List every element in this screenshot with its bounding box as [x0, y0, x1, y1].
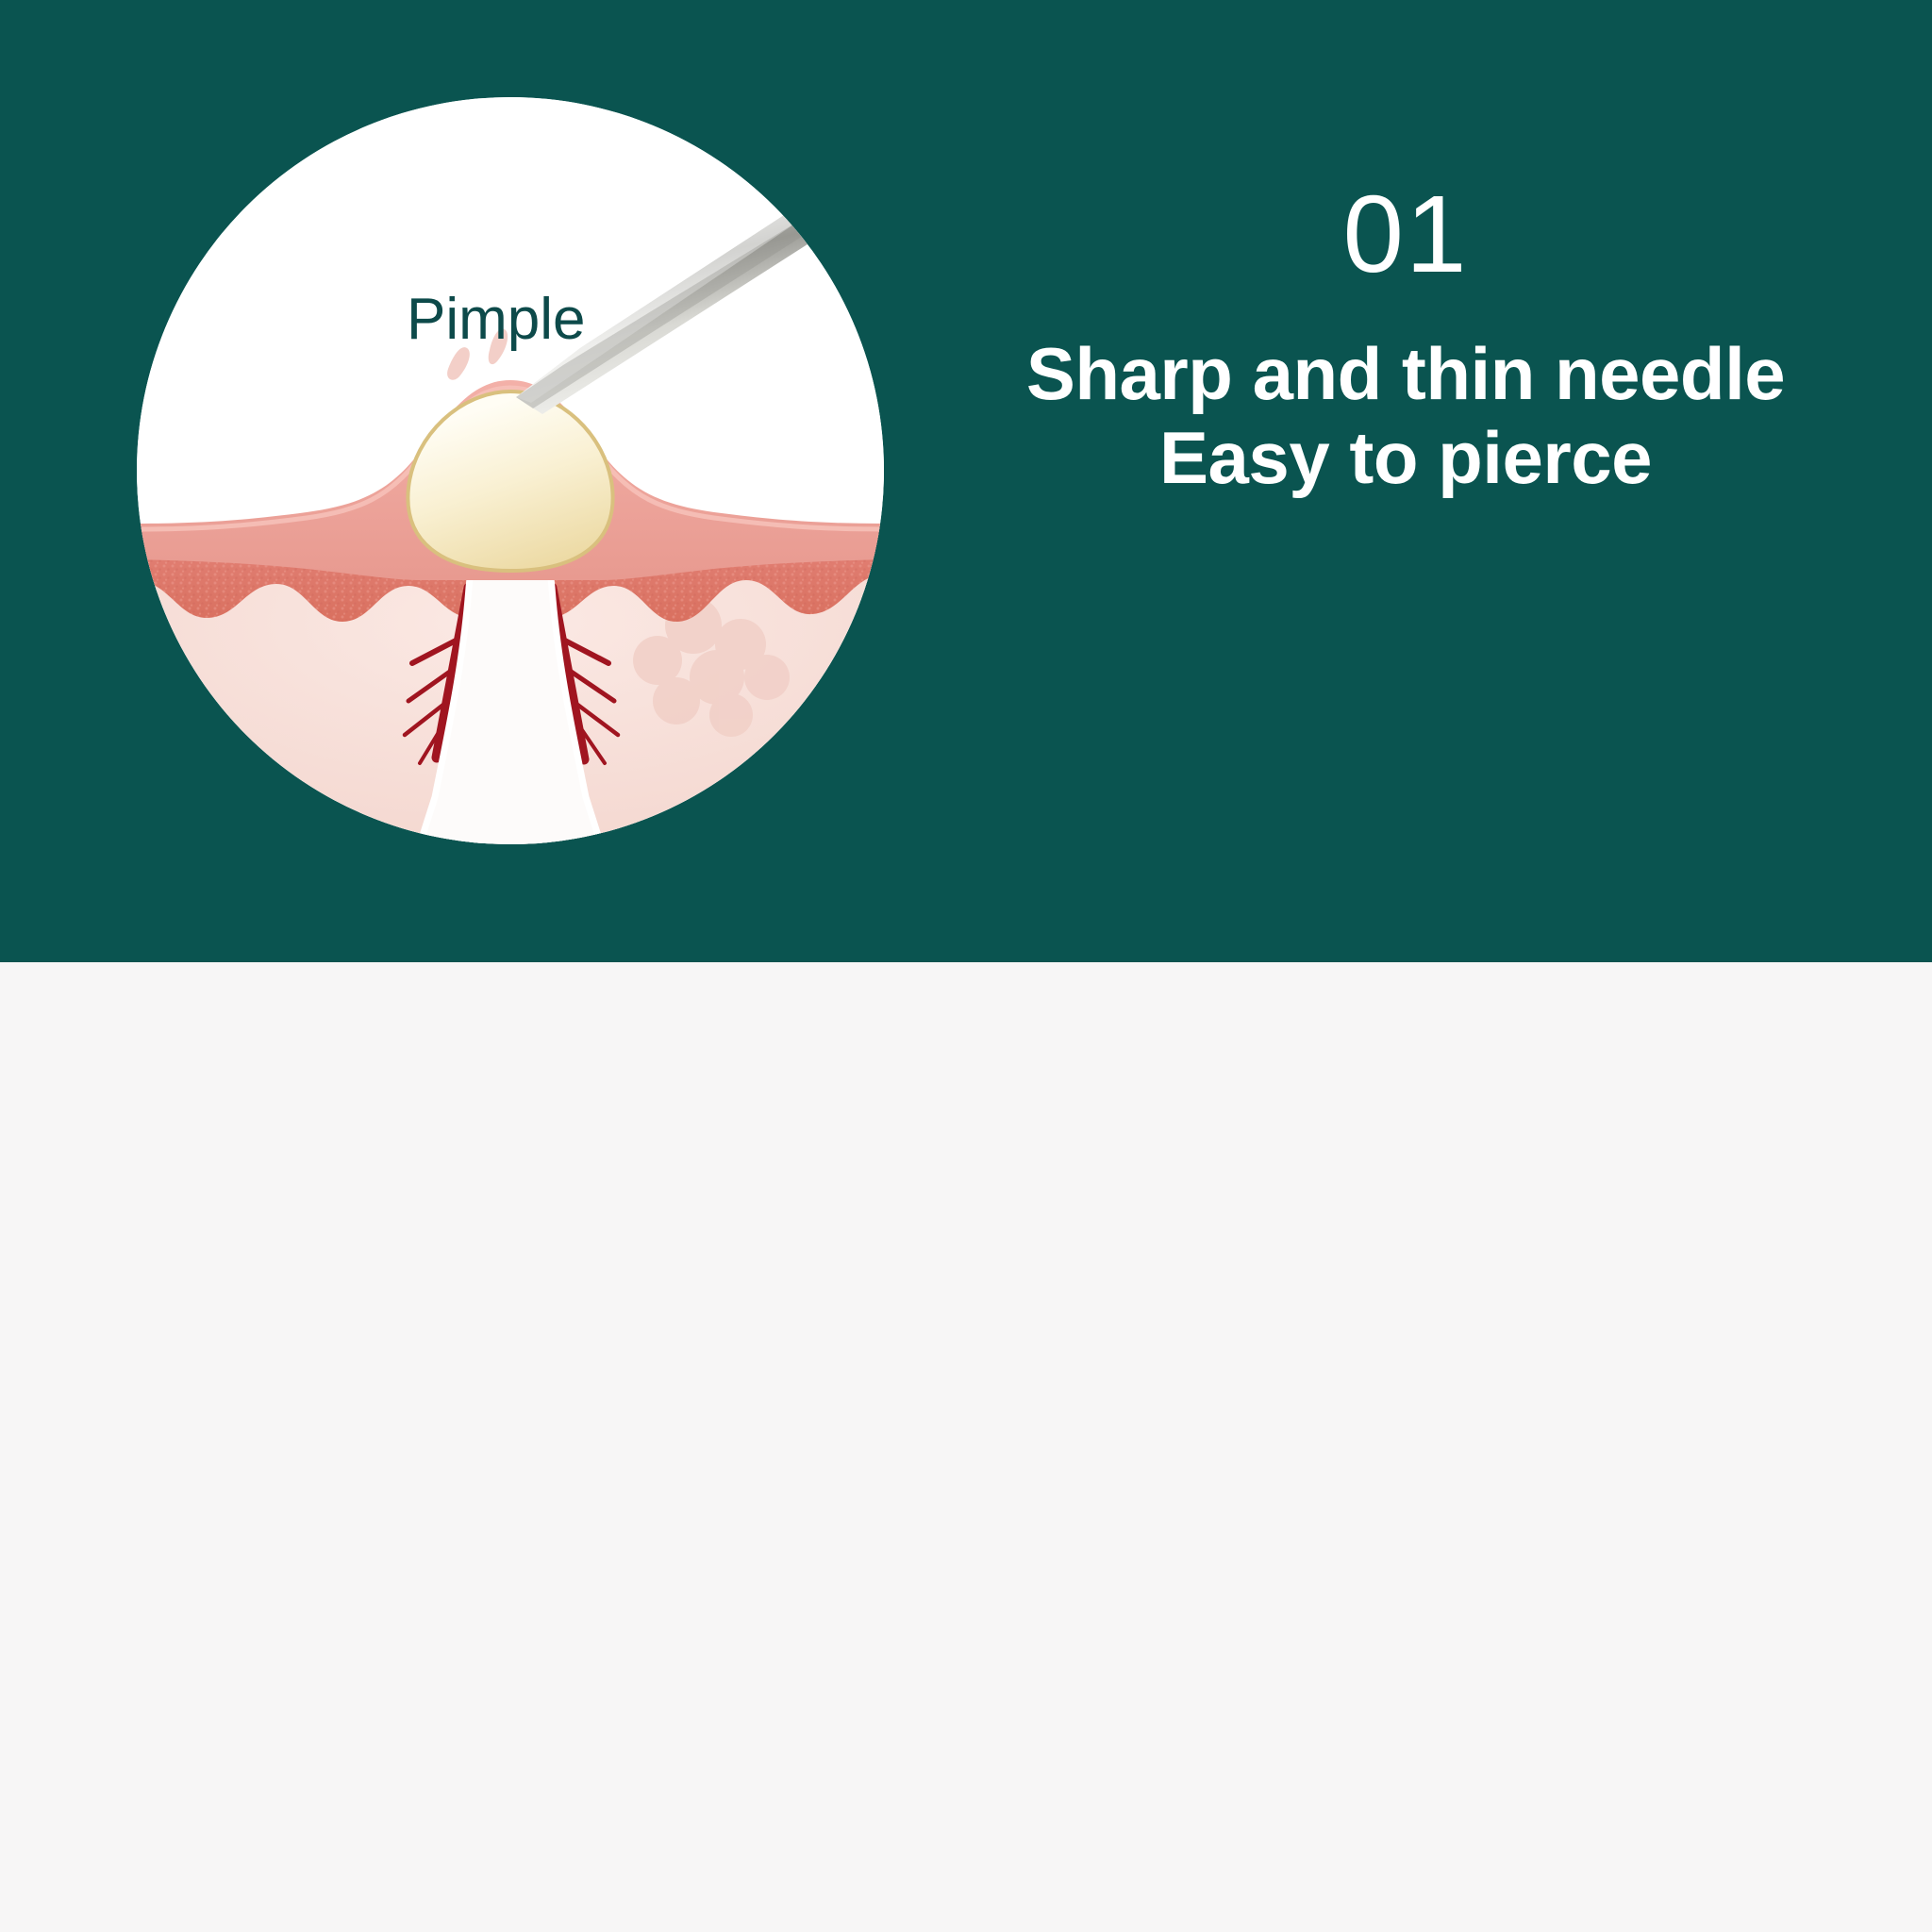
step-01-text-block: 01 Sharp and thin needle Easy to pierce — [953, 179, 1858, 500]
infographic-page: Pimple 01 Sharp and thin needle Easy to … — [0, 0, 1932, 1932]
skin-cross-section-svg-top — [137, 97, 884, 844]
pimple-label-top: Pimple — [407, 286, 586, 353]
step-02-panel: 02 Thin coil push out the pimple — [0, 962, 1932, 1932]
step-01-line-1: Sharp and thin needle — [953, 332, 1858, 416]
illustration-needle-piercing-pimple: Pimple — [137, 97, 884, 844]
step-01-number: 01 — [953, 179, 1858, 289]
step-01-line-2: Easy to pierce — [953, 416, 1858, 500]
step-01-panel: Pimple 01 Sharp and thin needle Easy to … — [0, 0, 1932, 962]
